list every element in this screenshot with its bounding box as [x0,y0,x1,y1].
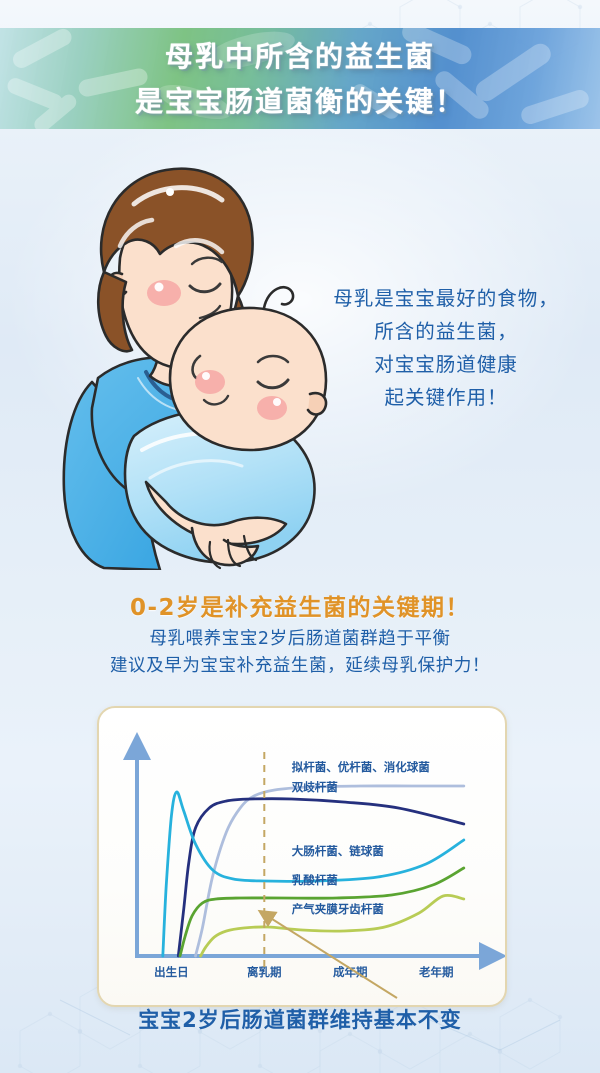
header-banner: 母乳中所含的益生菌 是宝宝肠道菌衡的关键！ [0,28,600,129]
gut-flora-chart-card: 拟杆菌、优杆菌、消化球菌双歧杆菌大肠杆菌、链球菌乳酸杆菌产气夹膜牙齿杆菌 出生日… [97,706,507,1007]
section-subtitle-line2: 建议及早为宝宝补充益生菌，延续母乳保护力！ [0,653,600,680]
chart-series-label-2: 双歧杆菌 [291,780,338,794]
banner-title: 母乳中所含的益生菌 是宝宝肠道菌衡的关键！ [0,34,600,124]
lead-line-1: 母乳是宝宝最好的食物， [310,282,582,315]
lead-line-2: 所含的益生菌， [310,315,582,348]
gut-flora-line-chart: 拟杆菌、优杆菌、消化球菌双歧杆菌大肠杆菌、链球菌乳酸杆菌产气夹膜牙齿杆菌 出生日… [99,708,505,1005]
mother-baby-illustration [42,150,342,570]
chart-xtick-4: 老年期 [418,965,454,979]
infographic-page: 母乳中所含的益生菌 是宝宝肠道菌衡的关键！ [0,0,600,1073]
section-subtitle: 母乳喂养宝宝2岁后肠道菌群趋于平衡 建议及早为宝宝补充益生菌，延续母乳保护力！ [0,626,600,680]
lead-line-4: 起关键作用！ [310,381,582,414]
chart-xtick-1: 出生日 [154,965,189,979]
chart-xtick-2: 离乳期 [247,965,281,979]
chart-series-label-1: 拟杆菌、优杆菌、消化球菌 [292,760,430,774]
section-subtitle-line1: 母乳喂养宝宝2岁后肠道菌群趋于平衡 [0,626,600,653]
banner-title-line2: 是宝宝肠道菌衡的关键！ [0,79,600,124]
chart-xtick-3: 成年期 [333,965,368,979]
chart-series-label-3: 大肠杆菌、链球菌 [292,844,384,858]
lead-paragraph: 母乳是宝宝最好的食物， 所含的益生菌， 对宝宝肠道健康 起关键作用！ [310,282,582,414]
chart-series-label-5: 产气夹膜牙齿杆菌 [292,902,384,916]
chart-series-label-4: 乳酸杆菌 [292,873,338,887]
series-layer [163,786,464,956]
section-title: 0-2岁是补充益生菌的关键期！ [0,588,600,622]
x-tick-label-layer: 出生日离乳期成年期老年期 [154,965,453,979]
bottom-caption: 宝宝2岁后肠道菌群维持基本不变 [0,1004,600,1034]
lead-line-3: 对宝宝肠道健康 [310,348,582,381]
banner-title-line1: 母乳中所含的益生菌 [0,34,600,79]
